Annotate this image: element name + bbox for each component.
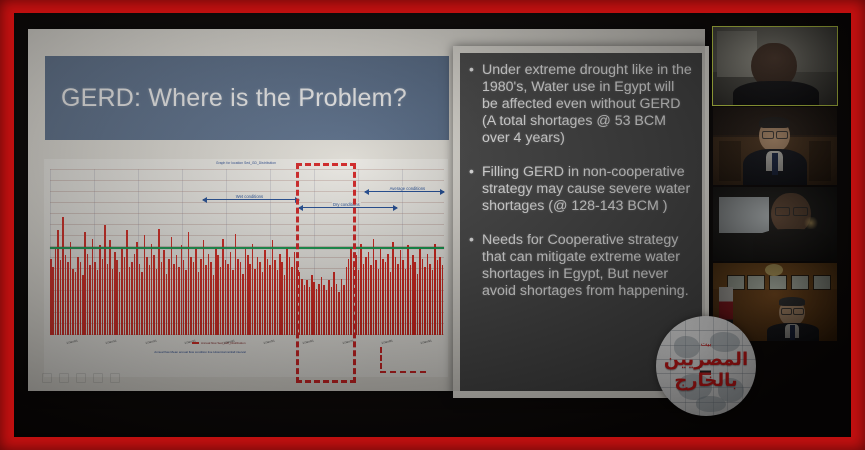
chart-bar [183,260,185,335]
chart-bar [358,270,360,335]
chart-bar [134,254,136,335]
x-tick-label: 1/Jan/81 [381,339,393,345]
chart-bar [153,255,155,335]
chart-bar [264,250,266,335]
chart-bar [397,264,399,335]
chart-legend: Annual flow Sed_GD_Distribution Annual f… [140,341,350,375]
chart-bar [87,254,89,335]
chart-bar [65,255,67,335]
legend-label-annual-flow: Annual flow Sed_GD_Distribution [201,341,246,345]
chart-bar [360,244,362,335]
chart-bar [176,255,178,335]
chart-bar [181,245,183,335]
chart-bar [252,244,254,335]
chart-bar [230,252,232,335]
video-tile-participant-1[interactable] [713,27,837,105]
chart-bar [80,262,82,335]
chart-bar [146,257,148,335]
chart-bar [225,260,227,335]
chart-bar [417,274,419,335]
chart-bar [178,267,180,335]
chart-bar [365,257,367,335]
chart-bar [55,249,57,335]
chart-bar [92,239,94,335]
chart-bar [208,254,210,335]
chart-bar [378,269,380,335]
chart-bar [262,272,264,335]
chart-bar [373,239,375,335]
chart-title: Graph for location Sed_GD_Distribution [44,161,448,165]
chart-bar [235,234,237,335]
chart-bar [220,267,222,335]
chart-bar [429,264,431,335]
annotation-average-line [365,191,444,192]
chart-bar [166,274,168,335]
chart-bar [286,247,288,335]
chart-bar [368,252,370,335]
chart-bar [232,270,234,335]
chart-bar [97,270,99,335]
annotation-average-label: Average conditions [389,186,427,191]
chart-bar [395,257,397,335]
video-participant-strip [713,27,837,341]
chart-bar [161,262,163,335]
chart-bar [400,250,402,335]
chart-bar [124,257,126,335]
chart-bar [210,262,212,335]
chart-bar [89,265,91,335]
chart-bar [70,242,72,335]
watermark-subtext: بيت [656,340,756,348]
chart-plot-area: Wet conditions Dry conditions Average co… [50,169,444,335]
slide-icon-1 [42,373,52,383]
red-photo-frame: GERD: Where is the Problem? Graph for lo… [0,0,865,450]
chart-bar [163,250,165,335]
conference-photo: GERD: Where is the Problem? Graph for lo… [14,13,851,437]
chart-bar [272,240,274,335]
chart-legend-note: Annual flow Mean annual flow condition l… [140,350,260,355]
chart-bar [242,274,244,335]
chart-bar [405,269,407,335]
chart-bar [129,267,131,335]
chart-bar [274,260,276,335]
tile2-vignette [713,107,837,185]
chart-bar [213,275,215,335]
chart-bar [72,269,74,335]
bullet-list: Under extreme drought like in the 1980's… [469,62,693,300]
chart-bar [114,252,116,335]
chart-bar [267,259,269,335]
chart-bar [198,272,200,335]
list-item: Under extreme drought like in the 1980's… [469,62,693,147]
chart-bar [269,265,271,335]
chart-bar [387,254,389,335]
chart-bar [424,267,426,335]
chart-bar [109,240,111,335]
chart-bar [363,264,365,335]
chart-bar [412,255,414,335]
x-tick-label: 1/Jan/91 [420,339,432,345]
chart-bar [382,259,384,335]
chart-bar [107,264,109,335]
chart-bar [240,262,242,335]
chart-bar [158,229,160,335]
chart-bar [121,249,123,335]
chart-bar [171,237,173,335]
chart-bar [200,259,202,335]
chart-bar [434,244,436,335]
chart-bar [116,260,118,335]
chart-bar [62,217,64,335]
chart-bar [375,260,377,335]
chart-bar [136,242,138,335]
chart-bar [249,264,251,335]
chart-bar [52,267,54,335]
chart-bar [422,259,424,335]
chart-bar [75,272,77,335]
chart-bar [257,257,259,335]
chart-bar [94,262,96,335]
annotation-wet-label: Wet conditions [235,194,264,199]
mean-flow-reference-line [50,247,444,249]
legend-swatch-annual-flow [192,342,199,345]
chart-bar [291,267,293,335]
list-item: Needs for Cooperative strategy that can … [469,232,693,300]
slide-icon-5 [110,373,120,383]
video-tile-participant-3[interactable] [713,187,837,261]
chart-bar [294,252,296,335]
chart-bar [427,254,429,335]
slide-bottom-icons [42,373,120,383]
channel-watermark: بيت المصريين بالخارج [656,316,756,416]
flag-icon [700,368,711,375]
chart-bar [119,272,121,335]
chart-bar [259,262,261,335]
chart-bar [439,257,441,335]
chart-bar [432,270,434,335]
tile1-vignette [713,27,837,105]
dashed-key-horizontal [380,371,426,373]
chart-bar [227,264,229,335]
chart-bar [222,239,224,335]
chart-bar [151,244,153,335]
chart-bar [104,225,106,335]
chart-bar [156,269,158,335]
annual-flow-chart: Graph for location Sed_GD_Distribution W… [44,159,448,377]
chart-bar [131,262,133,335]
chart-dashed-key [370,347,426,373]
chart-bar [390,272,392,335]
chart-bar [385,262,387,335]
tile3-vignette [713,187,837,261]
chart-bar [392,242,394,335]
chart-bar [77,257,79,335]
chart-bar [380,247,382,335]
chart-bar [217,255,219,335]
chart-bar [205,265,207,335]
presentation-slide: GERD: Where is the Problem? Graph for lo… [28,29,705,391]
chart-bar [277,270,279,335]
x-tick-label: 1/Jan/11 [105,339,117,345]
chart-bar [254,269,256,335]
chart-bar [190,257,192,335]
chart-bar [437,260,439,335]
chart-bar [82,275,84,335]
chart-bar [60,260,62,335]
chart-bar [442,265,444,335]
chart-bar [410,265,412,335]
slide-icon-3 [76,373,86,383]
chart-bar [50,259,52,335]
chart-bar [195,249,197,335]
page-title: GERD: Where is the Problem? [45,84,423,113]
x-tick-label: 1/Jan/01 [66,339,78,345]
chart-bar [215,247,217,335]
chart-bar [149,265,151,335]
chart-bar [112,269,114,335]
chart-bar [237,259,239,335]
chart-bar [402,260,404,335]
chart-bar [139,264,141,335]
chart-bar [193,262,195,335]
chart-bar [245,249,247,335]
annotation-wet-line [203,199,299,200]
chart-bar [407,245,409,335]
video-tile-participant-2[interactable] [713,107,837,185]
chart-bar [370,265,372,335]
chart-bar [173,264,175,335]
chart-bar [99,245,101,335]
dashed-key-vertical [380,347,382,369]
chart-bar [289,257,291,335]
chart-bar [284,275,286,335]
chart-bar [203,240,205,335]
chart-bar [414,262,416,335]
slide-title-banner: GERD: Where is the Problem? [45,56,449,140]
chart-bar [185,270,187,335]
slide-icon-4 [93,373,103,383]
chart-bar [279,254,281,335]
chart-bar [144,235,146,335]
chart-bar [168,259,170,335]
slide-icon-2 [59,373,69,383]
globe-landmass [696,396,726,412]
chart-bar [419,249,421,335]
chart-bar [281,262,283,335]
chart-bar [141,272,143,335]
chart-bar [102,259,104,335]
list-item: Filling GERD in non-cooperative strategy… [469,164,693,215]
chart-bar [247,255,249,335]
chart-bar [67,262,69,335]
